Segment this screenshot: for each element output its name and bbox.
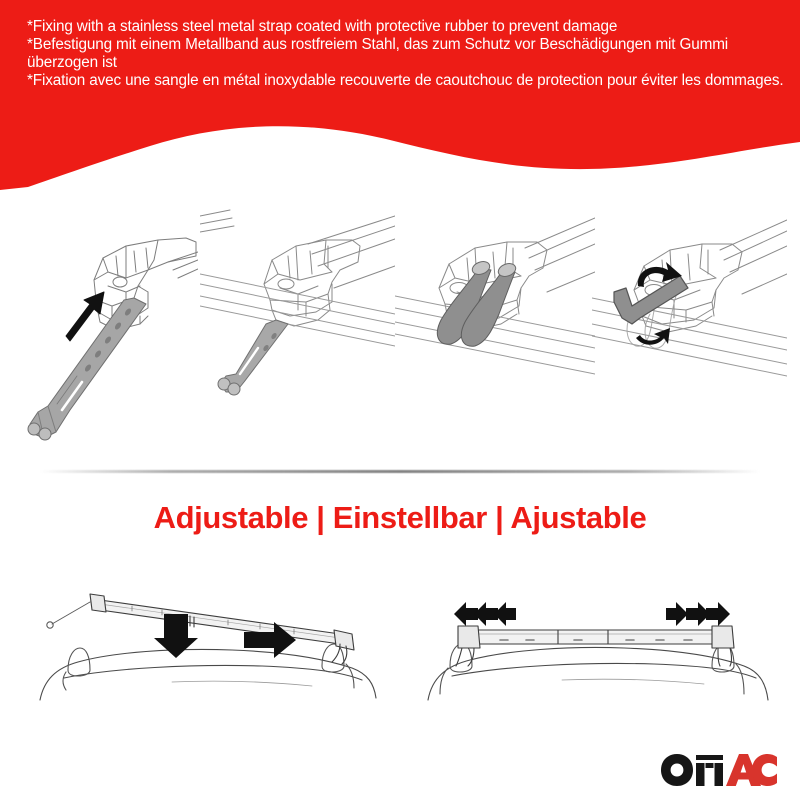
triple-arrow-left-icon (454, 602, 516, 626)
omac-logo (660, 752, 778, 786)
product-info-graphic: *Fixing with a stainless steel metal str… (0, 0, 800, 800)
header-description-text: *Fixing with a stainless steel metal str… (27, 18, 787, 90)
rail-foot-left (63, 648, 90, 690)
triple-arrow-right-icon (666, 602, 730, 626)
diagram-strap-insert (8, 196, 198, 446)
rack-foot-outline (94, 238, 198, 330)
car-roof-outline (40, 650, 376, 701)
diagram-foot-on-rail (200, 196, 395, 446)
rail-foot-right (322, 644, 354, 688)
wrapped-strap (437, 259, 517, 346)
diagram-strap-wrapped (395, 196, 595, 446)
section-divider (40, 470, 760, 473)
rack-foot-outline (264, 240, 360, 326)
diagram-tighten-bolt (592, 196, 787, 446)
diagram-tilt-adjust (22, 572, 382, 707)
level-crossbar (456, 626, 734, 666)
header-banner: *Fixing with a stainless steel metal str… (0, 0, 800, 190)
tilted-crossbar (47, 594, 354, 664)
metal-strap (28, 298, 146, 440)
logo-letter-o (661, 754, 693, 786)
logo-letter-m (696, 755, 723, 786)
diagram-width-adjust (412, 572, 772, 707)
car-roof-outline (428, 648, 768, 701)
adjustable-heading: Adjustable | Einstellbar | Ajustable (0, 500, 800, 536)
rail-foot-left (440, 644, 472, 694)
insertion-arrow-icon (66, 292, 104, 341)
metal-strap (218, 320, 288, 395)
hex-key-icon (614, 276, 688, 324)
